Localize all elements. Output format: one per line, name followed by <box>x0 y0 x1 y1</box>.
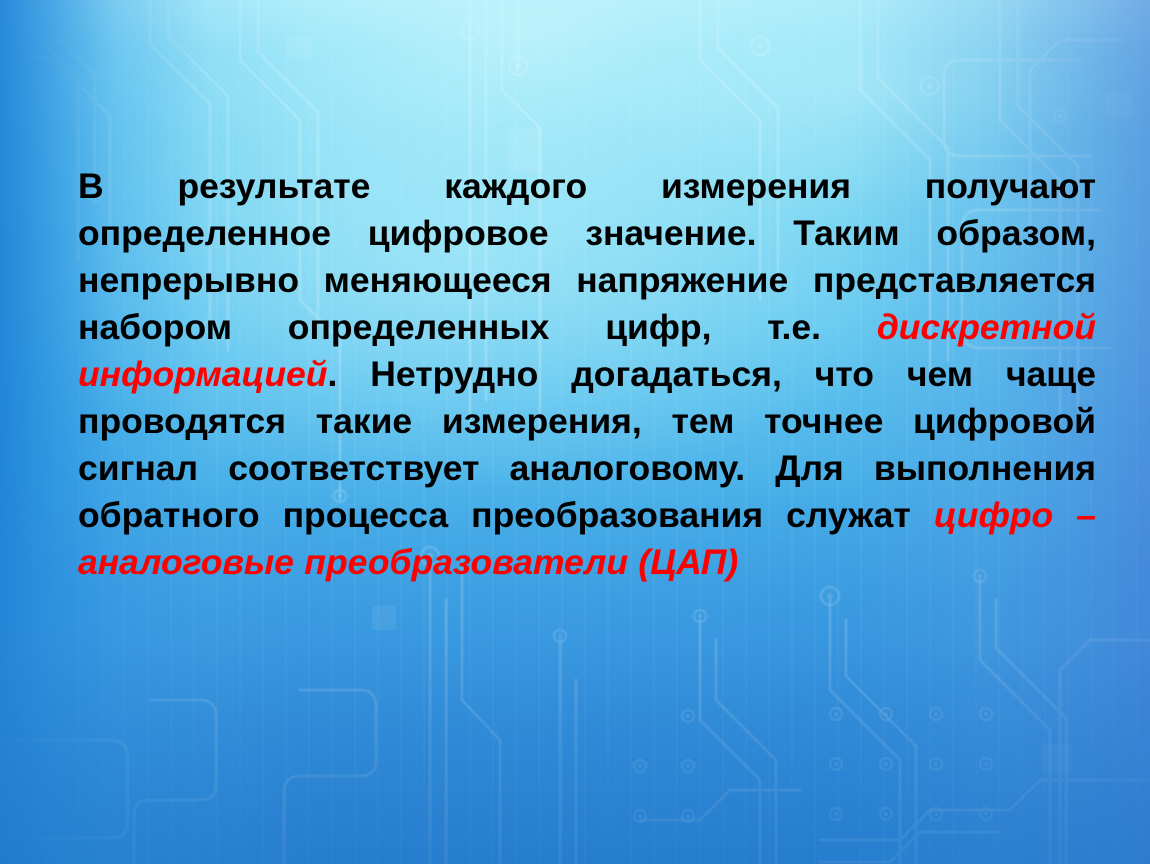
slide-text-block: В результате каждого измерения получают … <box>78 163 1096 586</box>
presentation-slide: В результате каждого измерения получают … <box>0 0 1150 864</box>
body-paragraph: В результате каждого измерения получают … <box>78 163 1096 586</box>
